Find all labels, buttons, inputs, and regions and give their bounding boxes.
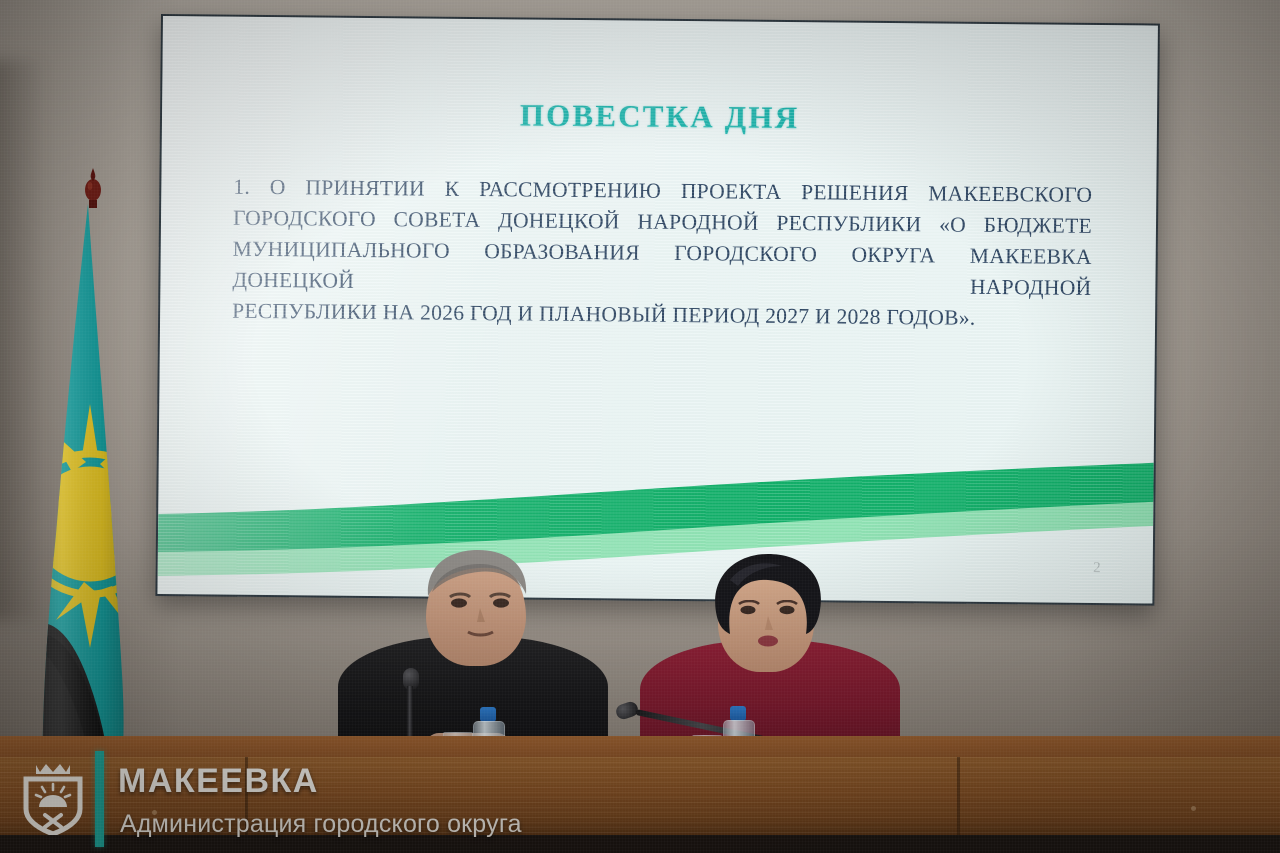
meeting-room-photo: ПОВЕСТКА ДНЯ 1. О ПРИНЯТИИ К РАССМОТРЕНИ…	[0, 0, 1280, 853]
photo-vignette	[0, 0, 1280, 853]
